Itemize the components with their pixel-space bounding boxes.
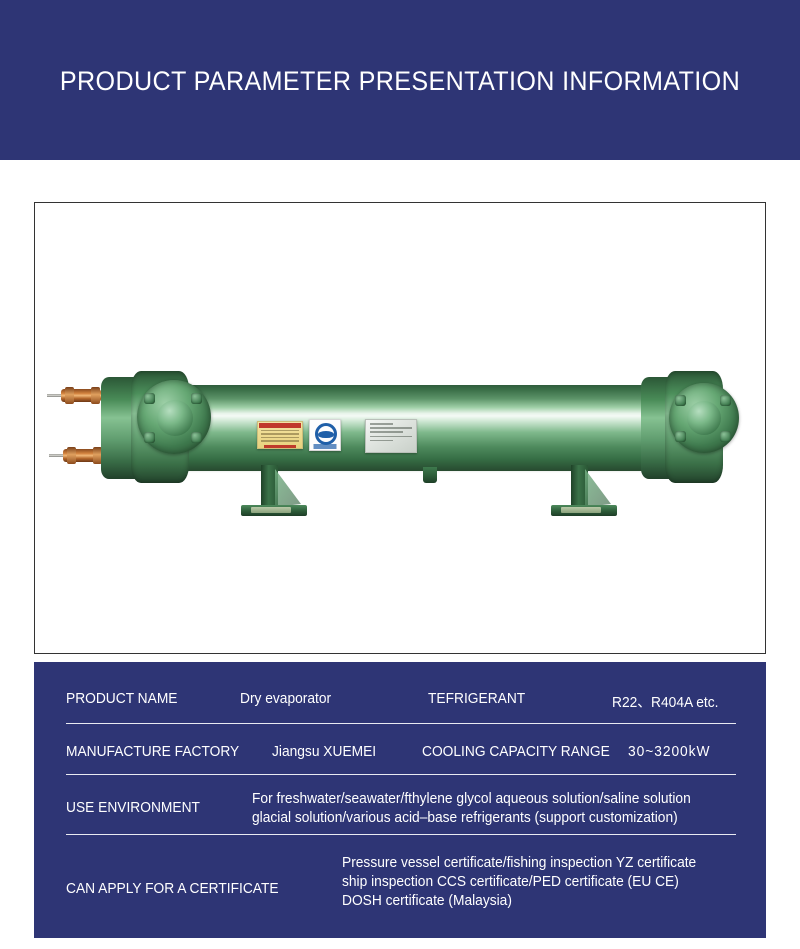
page-title: PRODUCT PARAMETER PRESENTATION INFORMATI…	[28, 66, 772, 97]
saddle-support-left	[235, 465, 309, 517]
product-photo	[35, 203, 765, 653]
heat-exchanger-illustration	[45, 371, 757, 531]
nameplate-line	[370, 436, 412, 438]
saddle-gusset	[585, 469, 611, 507]
certification-label	[309, 419, 341, 451]
row-separator	[66, 774, 736, 775]
nameplate-line	[370, 440, 393, 442]
row-separator	[66, 834, 736, 835]
right-cap-dome	[687, 401, 721, 435]
copper-ring-lower	[67, 447, 76, 464]
warning-label-line	[261, 440, 299, 441]
warning-label-header	[259, 423, 301, 428]
warning-label-line	[261, 437, 299, 438]
warning-label-footer	[264, 445, 296, 448]
nameplate-line	[370, 423, 393, 425]
flange-bolt	[675, 431, 686, 442]
spec-label-refrigerant: TEFRIGERANT	[428, 691, 525, 707]
left-cap-dome	[157, 400, 193, 436]
saddle-base-plate	[251, 507, 291, 513]
saddle-gusset	[275, 469, 301, 507]
spec-label-cooling-capacity-range: COOLING CAPACITY RANGE	[422, 744, 610, 760]
spec-value-certificate: Pressure vessel certificate/fishing insp…	[342, 854, 696, 911]
copper-collar-upper	[91, 387, 100, 404]
spec-value-product-name: Dry evaporator	[240, 691, 331, 707]
flange-bolt	[191, 432, 202, 443]
saddle-support-right	[545, 465, 619, 517]
flange-bolt	[144, 393, 155, 404]
flange-bolt	[720, 431, 731, 442]
copper-ring-upper	[65, 387, 74, 404]
spec-value-cooling-capacity-range: 30~3200kW	[628, 744, 710, 760]
flange-bolt	[720, 395, 731, 406]
flange-bolt	[144, 432, 155, 443]
warning-label-line	[261, 430, 299, 431]
flange-bolt	[675, 395, 686, 406]
certification-label-text	[310, 444, 340, 449]
spec-label-manufacture-factory: MANUFACTURE FACTORY	[66, 744, 239, 760]
nameplate-line	[370, 431, 403, 433]
spec-label-product-name: PRODUCT NAME	[66, 691, 177, 707]
spec-label-certificate: CAN APPLY FOR A CERTIFICATE	[66, 881, 279, 897]
spec-value-refrigerant: R22、R404A etc.	[612, 691, 718, 712]
spec-value-use-environment: For freshwater/seawater/fthylene glycol …	[252, 790, 691, 828]
spec-value-manufacture-factory: Jiangsu XUEMEI	[272, 744, 376, 760]
row-separator	[66, 723, 736, 724]
certification-swoosh-icon	[318, 431, 334, 438]
warning-label-line	[261, 433, 299, 434]
header-banner: PRODUCT PARAMETER PRESENTATION INFORMATI…	[0, 0, 800, 160]
page-root: PRODUCT PARAMETER PRESENTATION INFORMATI…	[0, 0, 800, 949]
cylindrical-shell	[140, 385, 710, 471]
nameplate-line	[370, 427, 412, 429]
nameplate-label	[365, 419, 417, 453]
specification-table: PRODUCT NAME Dry evaporator TEFRIGERANT …	[34, 662, 766, 938]
saddle-base-plate	[561, 507, 601, 513]
flange-bolt	[191, 393, 202, 404]
warning-label	[257, 421, 303, 449]
spec-label-use-environment: USE ENVIRONMENT	[66, 800, 200, 816]
drain-port	[423, 467, 437, 483]
product-photo-frame	[34, 202, 766, 654]
